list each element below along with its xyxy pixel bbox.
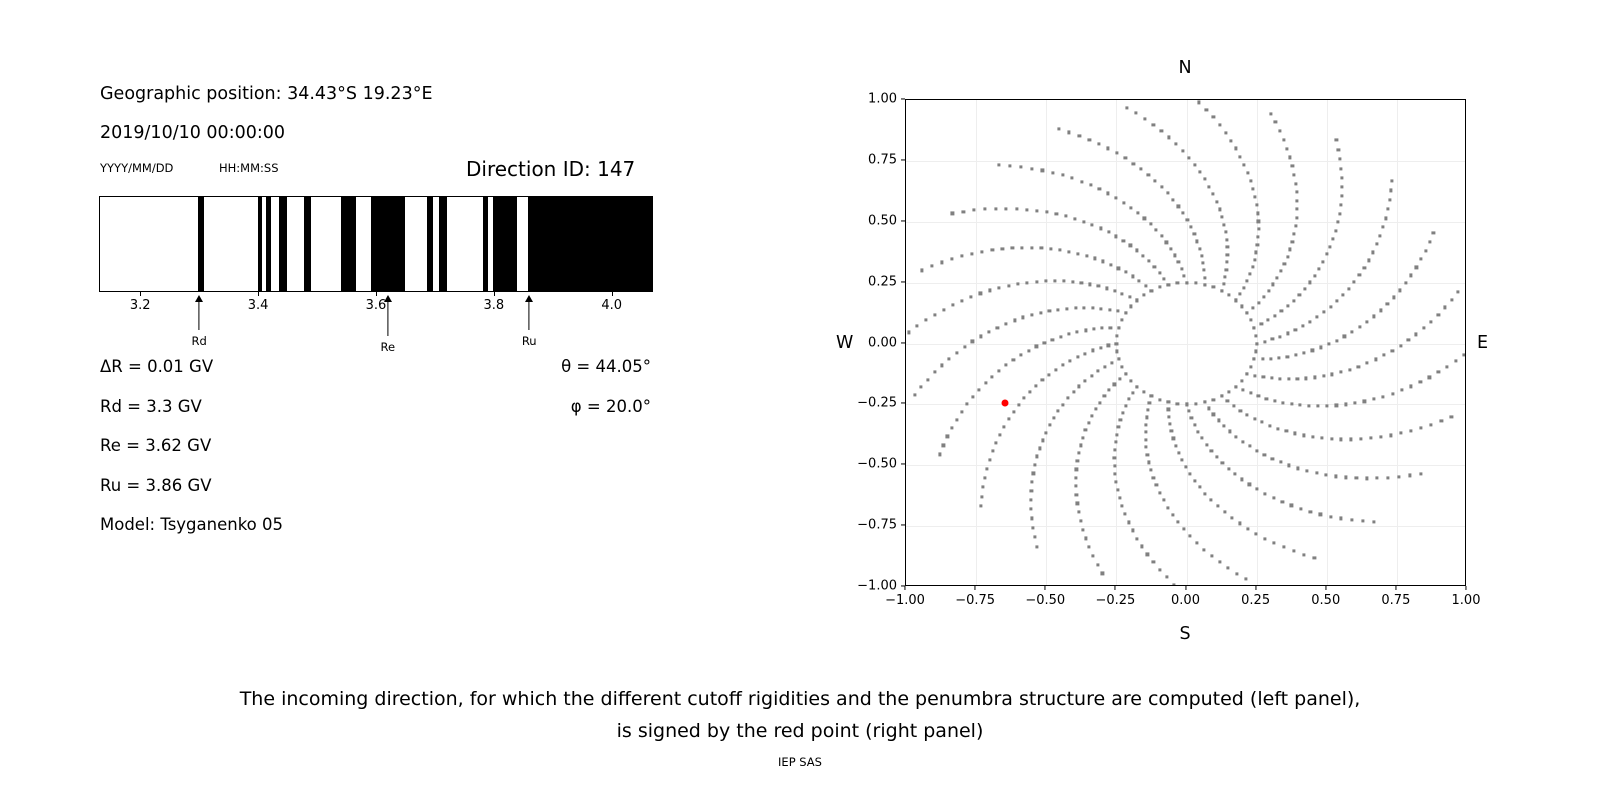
figure-caption: The incoming direction, for which the di… (0, 683, 1600, 747)
polar-x-tick (1325, 586, 1326, 590)
polar-y-tick-label: −0.25 (845, 396, 897, 411)
stat-left-row: Ru = 3.86 GV (100, 476, 212, 495)
polar-x-tick (1395, 586, 1396, 590)
polar-y-tick (901, 342, 905, 343)
polar-y-tick-label: 1.00 (845, 92, 897, 107)
polar-y-tick (901, 525, 905, 526)
polar-x-tick (904, 586, 905, 590)
right-panel: −1.00−0.75−0.50−0.250.000.250.500.751.00… (800, 0, 1600, 680)
polar-y-tick (901, 159, 905, 160)
polar-y-tick-label: 0.50 (845, 213, 897, 228)
polar-y-tick (901, 464, 905, 465)
polar-x-tick (975, 586, 976, 590)
polar-y-tick (901, 585, 905, 586)
polar-x-tick (1465, 586, 1466, 590)
polar-x-tick-label: −0.25 (1095, 593, 1135, 608)
polar-y-tick-label: 0.75 (845, 152, 897, 167)
polar-x-tick (1185, 586, 1186, 590)
stat-left-row: Rd = 3.3 GV (100, 397, 202, 416)
compass-label-west: W (836, 333, 853, 353)
caption-line-1: The incoming direction, for which the di… (0, 683, 1600, 715)
polar-y-tick (901, 220, 905, 221)
caption-line-2: is signed by the red point (right panel) (0, 715, 1600, 747)
stat-right-row: φ = 20.0° (571, 397, 651, 416)
polar-x-tick (1255, 586, 1256, 590)
polar-y-tick-label: 0.25 (845, 274, 897, 289)
stat-left-row: Re = 3.62 GV (100, 436, 211, 455)
polar-x-tick-label: −1.00 (885, 593, 925, 608)
stat-left-row: ΔR = 0.01 GV (100, 357, 213, 376)
polar-y-tick-label: −0.75 (845, 518, 897, 533)
polar-y-tick-label: −1.00 (845, 579, 897, 594)
polar-x-tick (1045, 586, 1046, 590)
selected-direction-point[interactable] (1001, 399, 1008, 406)
polar-y-tick (901, 281, 905, 282)
stat-right-row: θ = 44.05° (561, 357, 651, 376)
polar-x-tick-label: 1.00 (1452, 593, 1481, 608)
polar-x-tick-label: 0.50 (1311, 593, 1340, 608)
polar-x-tick-label: 0.75 (1381, 593, 1410, 608)
compass-label-east: E (1477, 333, 1488, 353)
polar-x-tick-label: −0.75 (955, 593, 995, 608)
polar-x-tick-label: 0.25 (1241, 593, 1270, 608)
polar-y-tick-label: −0.50 (845, 457, 897, 472)
compass-label-north: N (1178, 58, 1191, 78)
polar-y-tick (901, 403, 905, 404)
polar-x-tick (1115, 586, 1116, 590)
footer-attribution: IEP SAS (0, 755, 1600, 769)
left-panel: Geographic position: 34.43°S 19.23°E 201… (0, 0, 800, 680)
figure-root: Geographic position: 34.43°S 19.23°E 201… (0, 0, 1600, 800)
stats-block: ΔR = 0.01 GVRd = 3.3 GVRe = 3.62 GVRu = … (0, 0, 800, 680)
stat-left-row: Model: Tsyganenko 05 (100, 515, 283, 534)
polar-y-tick (901, 98, 905, 99)
compass-label-south: S (1179, 624, 1190, 644)
polar-x-tick-label: 0.00 (1171, 593, 1200, 608)
polar-x-tick-label: −0.50 (1025, 593, 1065, 608)
